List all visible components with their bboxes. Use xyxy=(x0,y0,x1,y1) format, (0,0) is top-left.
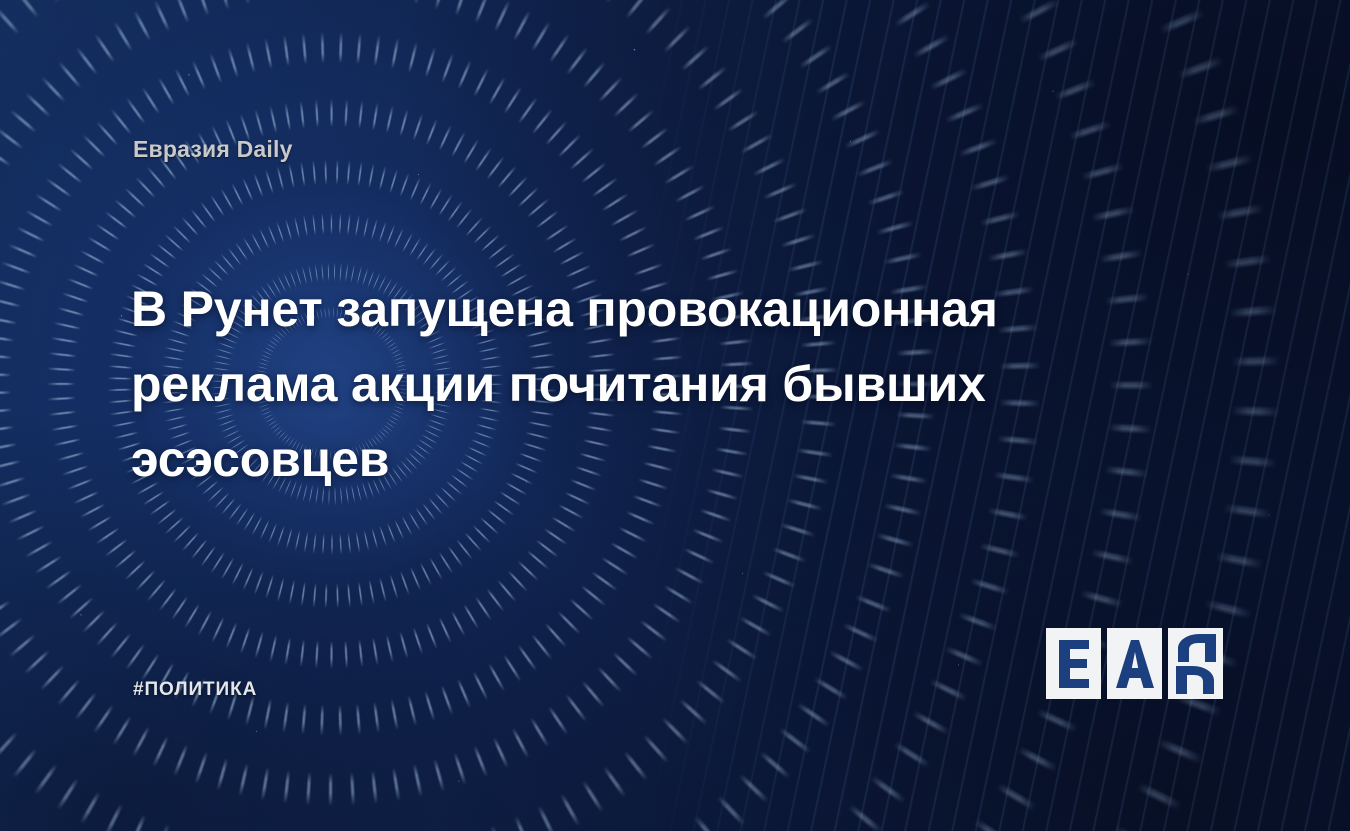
logo-tile-d xyxy=(1168,628,1223,699)
letter-d-split-icon xyxy=(1174,634,1218,694)
news-article-card: Евразия Daily В Рунет запущена провокаци… xyxy=(0,0,1350,831)
card-content: Евразия Daily В Рунет запущена провокаци… xyxy=(0,0,1350,831)
ead-logo[interactable] xyxy=(1046,628,1223,699)
letter-a-icon xyxy=(1114,638,1156,690)
letter-e-icon xyxy=(1055,638,1093,690)
site-name: Евразия Daily xyxy=(133,136,293,163)
logo-tile-e xyxy=(1046,628,1101,699)
category-tag[interactable]: #ПОЛИТИКА xyxy=(133,679,257,701)
headline: В Рунет запущена провокационная реклама … xyxy=(131,272,1106,497)
logo-tile-a xyxy=(1107,628,1162,699)
